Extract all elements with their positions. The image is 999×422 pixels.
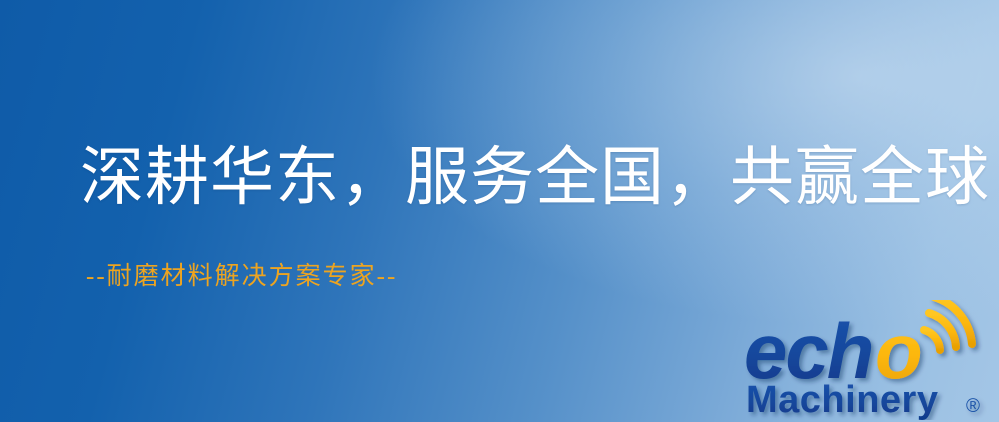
logo-trademark-icon: ®: [966, 396, 980, 417]
logo-tagline: Machinery: [746, 379, 938, 420]
banner-subtitle: --耐磨材料解决方案专家--: [86, 264, 397, 289]
echo-machinery-logo: ech o Machinery ®: [744, 300, 994, 420]
page-title: 深耕华东，服务全国，共赢全球: [80, 146, 990, 210]
promo-banner: 深耕华东，服务全国，共赢全球 --耐磨材料解决方案专家--: [0, 0, 999, 422]
signal-waves-icon: [924, 300, 972, 350]
